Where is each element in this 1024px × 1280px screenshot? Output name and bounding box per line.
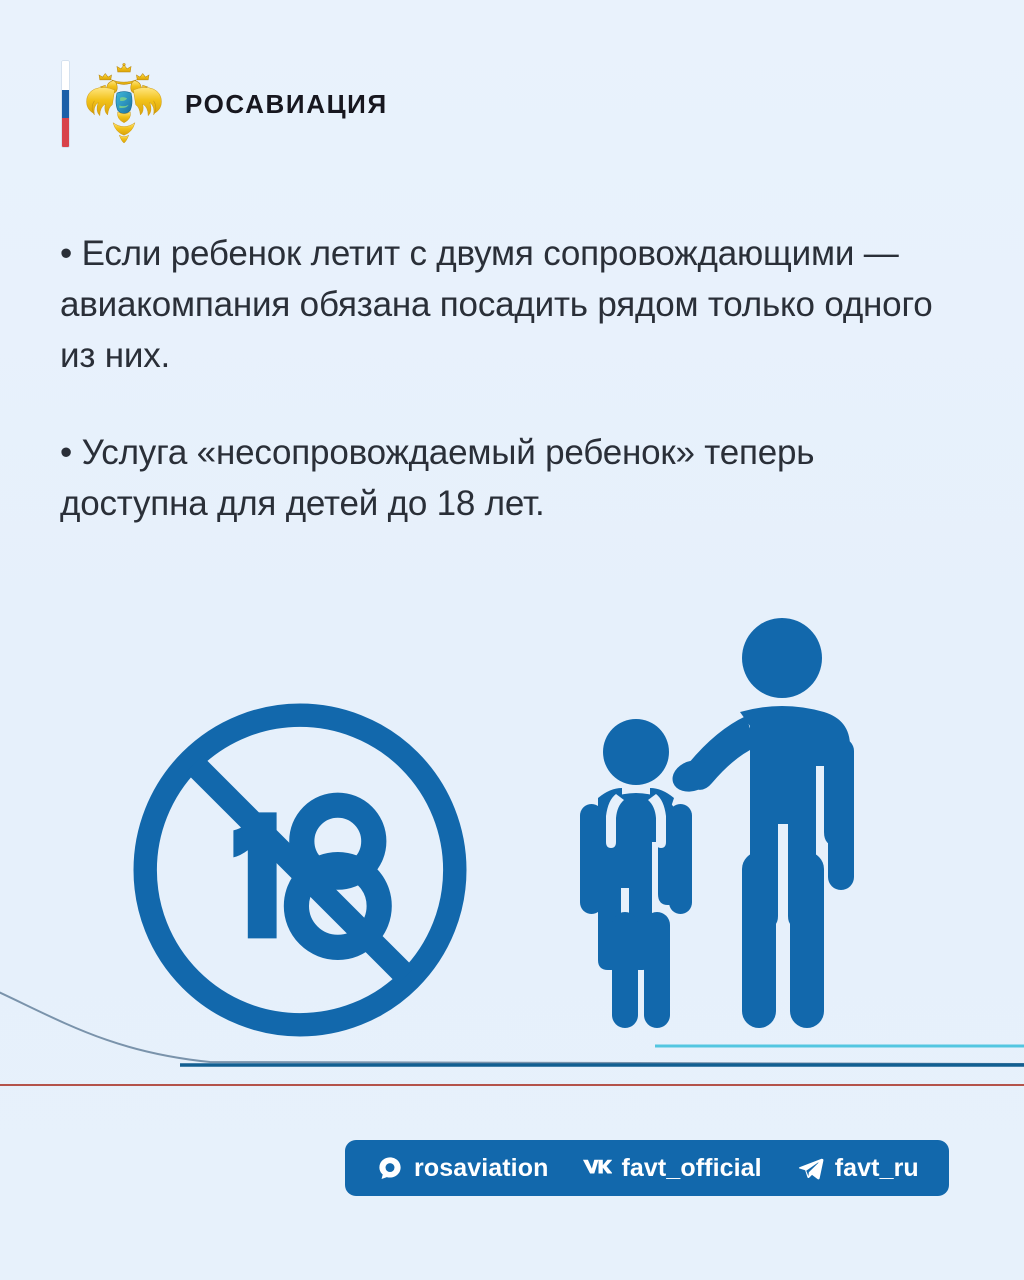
paragraph-1: • Если ребенок летит с двумя сопровождаю…	[60, 228, 940, 381]
social-link-favt-official[interactable]: favt_official	[582, 1153, 761, 1183]
decorative-curve	[0, 988, 1024, 1064]
social-link-rosaviation[interactable]: rosaviation	[375, 1153, 548, 1183]
brand-header: РОСАВИАЦИЯ	[62, 58, 388, 150]
social-handle-favt-official: favt_official	[621, 1154, 761, 1183]
brand-title: РОСАВИАЦИЯ	[185, 89, 388, 120]
telegram-icon	[796, 1153, 826, 1183]
decorative-lines	[0, 980, 1024, 1120]
social-links-bar: rosaviation favt_official favt_ru	[345, 1140, 949, 1196]
russian-flag-bar-icon	[62, 61, 69, 147]
max-messenger-icon	[375, 1153, 405, 1183]
paragraph-2: • Услуга «несопровождаемый ребенок» тепе…	[60, 427, 940, 529]
social-link-favt-ru[interactable]: favt_ru	[796, 1153, 919, 1183]
body-copy: • Если ребенок летит с двумя сопровождаю…	[60, 228, 940, 529]
infographic-page: РОСАВИАЦИЯ • Если ребенок летит с двумя …	[0, 0, 1024, 1280]
russian-double-headed-eagle-emblem-icon	[85, 63, 163, 145]
social-handle-favt-ru: favt_ru	[835, 1154, 919, 1183]
social-handle-rosaviation: rosaviation	[414, 1154, 548, 1183]
vk-icon	[582, 1153, 612, 1183]
